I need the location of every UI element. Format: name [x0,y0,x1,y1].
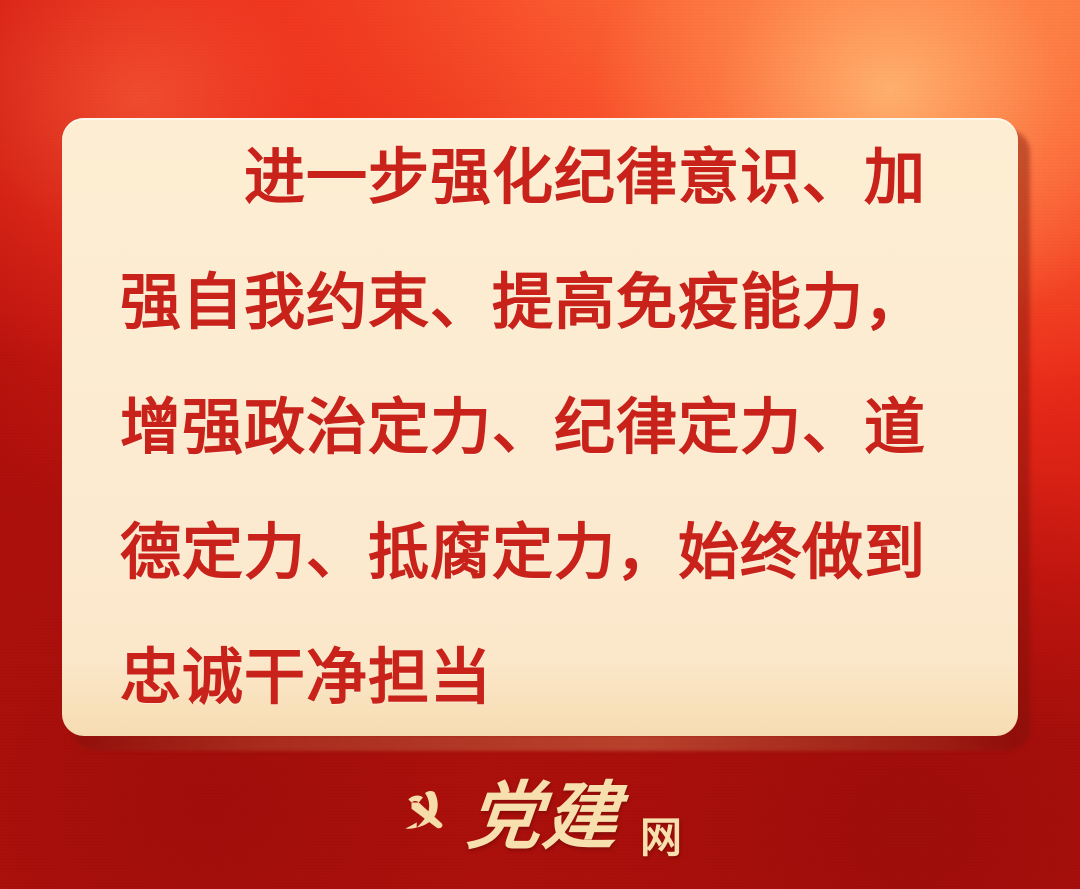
quote-card-inner: 进一步强化纪律意识、加强自我约束、提高免疫能力，增强政治定力、纪律定力、道德定力… [62,118,1018,736]
hammer-and-sickle-icon [398,789,450,839]
card-shadow-band [64,735,1016,751]
quote-card: 进一步强化纪律意识、加强自我约束、提高免疫能力，增强政治定力、纪律定力、道德定力… [62,118,1018,736]
brand-suffix-text: 网 [640,817,682,859]
poster-root: 进一步强化纪律意识、加强自我约束、提高免疫能力，增强政治定力、纪律定力、道德定力… [0,0,1080,889]
footer-brand: 党建 网 [0,763,1080,871]
quote-text: 进一步强化纪律意识、加强自我约束、提高免疫能力，增强政治定力、纪律定力、道德定力… [120,118,960,736]
brand-script-text: 党建 [464,780,624,854]
